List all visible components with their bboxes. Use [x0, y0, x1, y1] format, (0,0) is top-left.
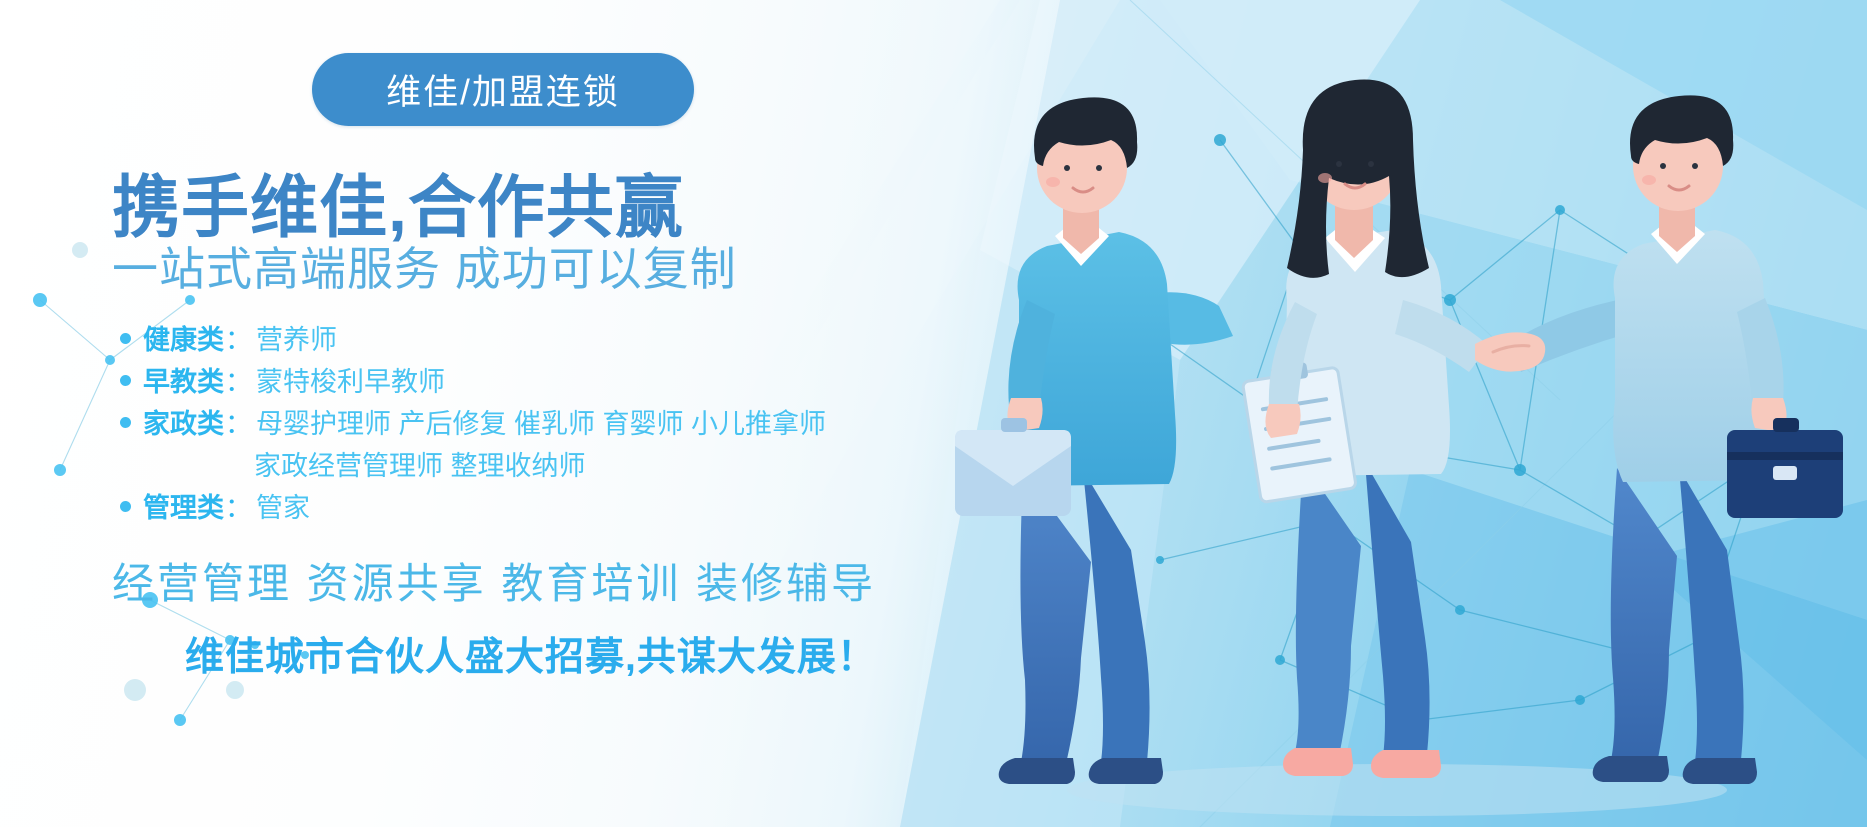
left-man-leg-2 — [1083, 470, 1150, 762]
category-label: 管理类 — [143, 486, 224, 525]
list-item: 管理类 ： 管家 — [120, 486, 1000, 520]
bullet-dot-icon — [120, 501, 131, 512]
figure-businessman-right — [1511, 95, 1843, 784]
category-label: 家政类 — [143, 402, 224, 441]
category-value: 蒙特梭利早教师 — [256, 360, 445, 399]
page-subtitle: 一站式高端服务 成功可以复制 — [112, 233, 737, 299]
category-value-wrapped: 家政经营管理师 整理收纳师 — [254, 444, 586, 483]
bullet-dot-icon — [120, 333, 131, 344]
list-item: 早教类 ： 蒙特梭利早教师 — [120, 360, 1000, 394]
category-separator: ： — [225, 402, 252, 441]
list-item: 家政类 ： 母婴护理师 产后修复 催乳师 育婴师 小儿推拿师 — [120, 402, 1000, 436]
brand-badge[interactable]: 维佳/加盟连锁 — [312, 53, 694, 126]
figure-businesswoman-center — [1241, 80, 1489, 779]
bullet-dot-icon — [120, 375, 131, 386]
handshake — [1475, 332, 1545, 371]
banner-content: 维佳/加盟连锁 携手维佳,合作共赢 一站式高端服务 成功可以复制 健康类 ： 营… — [0, 0, 1040, 827]
category-separator: ： — [225, 486, 252, 525]
category-value: 母婴护理师 产后修复 催乳师 育婴师 小儿推拿师 — [256, 402, 826, 441]
category-label: 早教类 — [143, 360, 224, 399]
category-separator: ： — [225, 318, 252, 357]
recruitment-slogan: 维佳城市合伙人盛大招募,共谋大发展！ — [185, 626, 877, 682]
brand-badge-label: 维佳/加盟连锁 — [386, 64, 620, 115]
list-item: 健康类 ： 营养师 — [120, 318, 1000, 352]
illustration-svg — [927, 0, 1867, 827]
bullet-dot-icon — [120, 417, 131, 428]
promo-banner: 维佳/加盟连锁 携手维佳,合作共赢 一站式高端服务 成功可以复制 健康类 ： 营… — [0, 0, 1867, 827]
service-highlights: 经营管理 资源共享 教育培训 装修辅导 — [112, 550, 876, 611]
people-illustration — [927, 0, 1867, 827]
service-category-list: 健康类 ： 营养师 早教类 ： 蒙特梭利早教师 家政类 ： 母婴护理师 产后修复… — [120, 318, 1000, 528]
list-item-continuation: 家政经营管理师 整理收纳师 — [120, 444, 1000, 478]
category-value: 营养师 — [256, 318, 337, 357]
category-separator: ： — [225, 360, 252, 399]
right-man-briefcase — [1727, 418, 1843, 518]
category-value: 管家 — [256, 486, 310, 525]
category-label: 健康类 — [143, 318, 224, 357]
